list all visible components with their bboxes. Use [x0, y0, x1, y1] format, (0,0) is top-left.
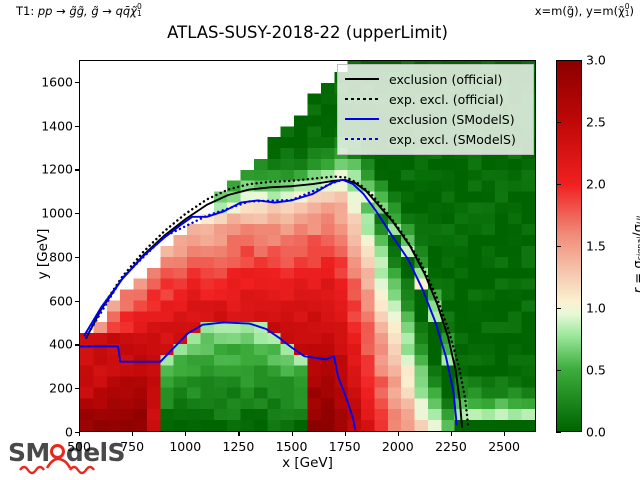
y-tick — [75, 432, 79, 433]
colorbar-tick — [556, 432, 561, 433]
x-variable-definition: x=m(g̃), — [535, 4, 583, 18]
contour-0 — [86, 180, 462, 427]
page-title: ATLAS-SUSY-2018-22 (upperLimit) — [79, 23, 536, 42]
legend: exclusion (official)exp. excl. (official… — [337, 64, 534, 155]
x-tick-label: 1750 — [329, 439, 361, 454]
y-tick — [75, 388, 79, 389]
legend-item-2[interactable]: exclusion (SModelS) — [344, 109, 527, 129]
y-tick-label: 1200 — [33, 162, 73, 177]
x-tick — [451, 432, 452, 436]
y-tick-label: 1600 — [33, 74, 73, 89]
y-tick-label: 400 — [33, 337, 73, 352]
x-tick-label: 1250 — [223, 439, 255, 454]
process-formula: pp → g̃g̃, g̃ → qq̄χ̃ — [38, 4, 137, 18]
x-tick-label: 1500 — [276, 439, 308, 454]
y-tick-label: 200 — [33, 381, 73, 396]
x-tick — [132, 432, 133, 436]
colorbar-tick-label: 2.0 — [586, 177, 606, 192]
x-tick — [238, 432, 239, 436]
x-tick — [185, 432, 186, 436]
x-tick-label: 1000 — [169, 439, 201, 454]
colorbar-tick — [556, 184, 561, 185]
process-prefix: T1: — [16, 4, 34, 18]
x-tick-label: 500 — [67, 439, 91, 454]
x-tick-label: 750 — [120, 439, 144, 454]
y-tick-label: 600 — [33, 293, 73, 308]
process-chi-indices: 01 — [137, 4, 142, 18]
legend-item-3[interactable]: exp. excl. (SModelS) — [344, 129, 527, 149]
x-tick — [79, 432, 80, 436]
contour-4 — [86, 179, 343, 336]
legend-key-dotted-icon — [344, 93, 380, 105]
colorbar-tick-label: 1.0 — [586, 301, 606, 316]
y-tick — [75, 169, 79, 170]
colorbar-tick — [556, 370, 561, 371]
legend-line — [345, 118, 379, 120]
legend-label: exp. excl. (SModelS) — [389, 132, 516, 147]
legend-line — [345, 138, 379, 140]
y-tick-label: 1000 — [33, 206, 73, 221]
y-variable-definition: y=m(χ̃ — [586, 4, 625, 18]
legend-line — [345, 98, 379, 100]
y-tick — [75, 213, 79, 214]
axis-variable-annotation: x=m(g̃), y=m(χ̃01) — [535, 4, 634, 18]
x-tick — [292, 432, 293, 436]
x-tick-label: 2000 — [382, 439, 414, 454]
legend-key-solid-icon — [344, 73, 380, 85]
x-axis-label: x [GeV] — [79, 455, 536, 471]
y-tick — [75, 82, 79, 83]
y-tick — [75, 257, 79, 258]
legend-item-1[interactable]: exp. excl. (official) — [344, 89, 527, 109]
y-tick — [75, 301, 79, 302]
colorbar-tick — [556, 60, 561, 61]
legend-item-0[interactable]: exclusion (official) — [344, 69, 527, 89]
colorbar-tick — [556, 308, 561, 309]
contour-2 — [80, 322, 355, 429]
colorbar-tick — [556, 246, 561, 247]
colorbar-tick-label: 2.5 — [586, 115, 606, 130]
y-variable-close: ) — [630, 4, 635, 18]
y-tick-label: 800 — [33, 249, 73, 264]
colorbar-label: r = σsignal/σUL — [632, 179, 640, 329]
legend-line — [345, 78, 379, 80]
contour-1 — [86, 176, 468, 426]
legend-key-solid-icon — [344, 113, 380, 125]
colorbar-tick-label: 3.0 — [586, 53, 606, 68]
colorbar-tick — [556, 122, 561, 123]
legend-label: exclusion (SModelS) — [389, 112, 515, 127]
process-annotation: T1: pp → g̃g̃, g̃ → qq̄χ̃01 — [16, 4, 142, 18]
legend-key-dotted-icon — [344, 133, 380, 145]
legend-label: exp. excl. (official) — [389, 92, 504, 107]
y-tick-label: 0 — [33, 425, 73, 440]
colorbar-tick-label: 1.5 — [586, 239, 606, 254]
plot-root: T1: pp → g̃g̃, g̃ → qq̄χ̃01 x=m(g̃), y=m… — [0, 0, 640, 480]
legend-label: exclusion (official) — [389, 72, 502, 87]
y-tick — [75, 344, 79, 345]
x-tick-label: 2500 — [488, 439, 520, 454]
x-tick-label: 2250 — [435, 439, 467, 454]
contour-3 — [84, 180, 456, 425]
x-tick — [504, 432, 505, 436]
y-tick — [75, 126, 79, 127]
colorbar-tick-label: 0.5 — [586, 363, 606, 378]
x-tick — [398, 432, 399, 436]
x-tick — [345, 432, 346, 436]
y-tick-label: 1400 — [33, 118, 73, 133]
colorbar-tick-label: 0.0 — [586, 425, 606, 440]
